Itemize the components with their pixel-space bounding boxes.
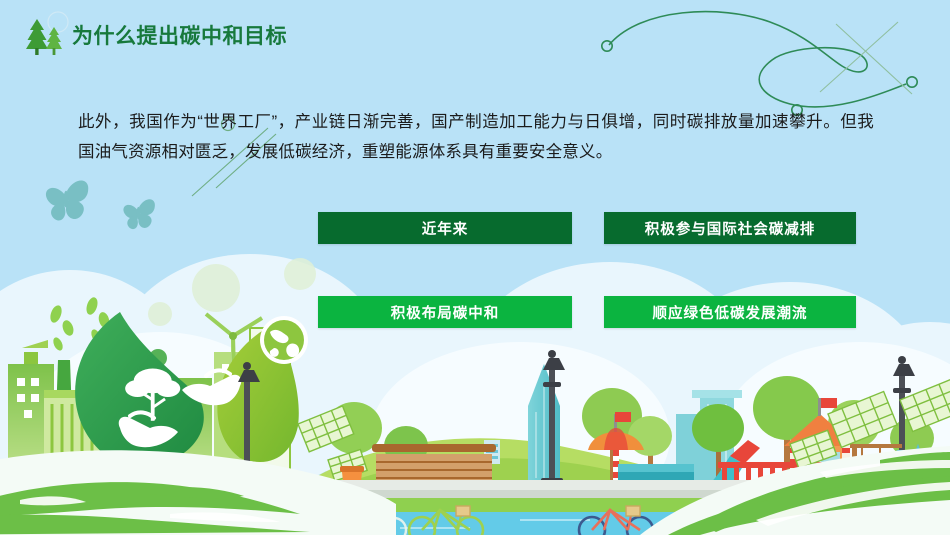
body-paragraph: 此外，我国作为“世界工厂”，产业链日渐完善，国产制造加工能力与日俱增，同时碳排放… [78,107,874,168]
tag-button-grid: 近年来 积极参与国际社会碳减排 积极布局碳中和 顺应绿色低碳发展潮流 [318,212,856,328]
leaf-globe-icon [260,316,308,364]
butterfly-large-icon [46,180,88,220]
tag-button-international-carbon[interactable]: 积极参与国际社会碳减排 [604,212,856,244]
tag-button-carbon-neutral-layout[interactable]: 积极布局碳中和 [318,296,572,328]
slide-canvas: 为什么提出碳中和目标 此外，我国作为“世界工厂”，产业链日渐完善，国产制造加工能… [0,0,950,535]
pine-trees-icon [24,15,66,57]
page-title: 为什么提出碳中和目标 [72,26,287,47]
butterfly-small-icon [123,199,154,229]
tag-button-green-low-carbon[interactable]: 顺应绿色低碳发展潮流 [604,296,856,328]
page-header: 为什么提出碳中和目标 [24,14,287,58]
tag-button-recent-years[interactable]: 近年来 [318,212,572,244]
